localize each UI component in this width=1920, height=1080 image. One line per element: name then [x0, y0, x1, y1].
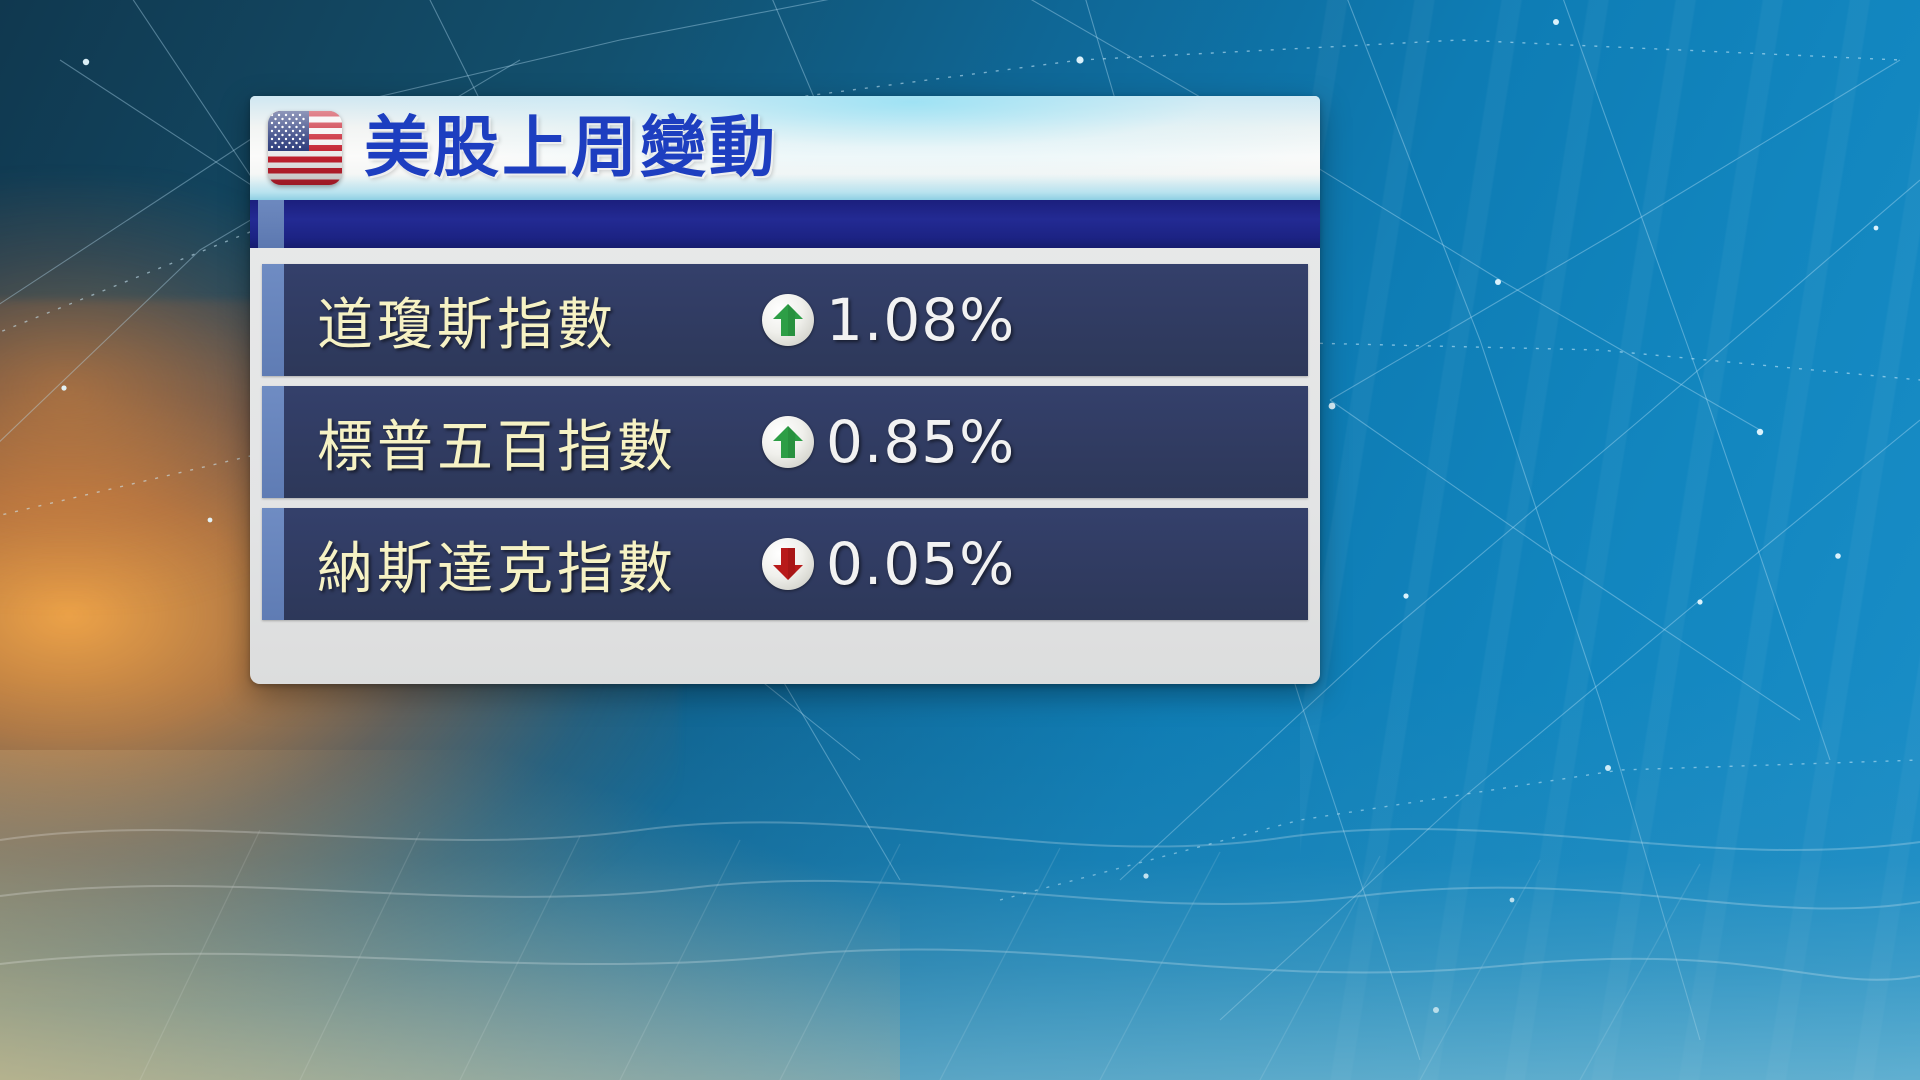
page-title: 美股上周變動	[364, 115, 778, 181]
index-change-value: 0.05%	[826, 530, 1015, 598]
us-flag-icon	[268, 111, 342, 185]
panel-footer-spacer	[250, 646, 1320, 654]
arrow-up-icon	[762, 416, 814, 468]
list-item: 納斯達克指數 0.05%	[262, 508, 1308, 620]
broadcast-graphic-stage: 美股上周變動 道瓊斯指數 1.08%	[0, 0, 1920, 1080]
index-change: 0.05%	[762, 530, 1015, 598]
floor-streaks-decoration	[0, 720, 1920, 1080]
index-name: 道瓊斯指數	[317, 280, 617, 361]
row-accent-bar	[262, 264, 284, 376]
list-item: 標普五百指數 0.85%	[262, 386, 1308, 498]
band-accent-block	[258, 200, 284, 248]
index-name: 標普五百指數	[317, 402, 677, 483]
panel-header: 美股上周變動	[250, 96, 1320, 200]
floor-glow-decoration	[0, 680, 1920, 1080]
arrow-up-icon	[762, 294, 814, 346]
index-change-value: 1.08%	[826, 286, 1015, 354]
index-list: 道瓊斯指數 1.08% 標普五百指數	[250, 248, 1320, 646]
index-change: 0.85%	[762, 408, 1015, 476]
index-change: 1.08%	[762, 286, 1015, 354]
list-item: 道瓊斯指數 1.08%	[262, 264, 1308, 376]
floor-warm-decoration	[0, 750, 900, 1080]
index-name: 納斯達克指數	[317, 524, 677, 605]
panel-divider-band	[250, 200, 1320, 248]
index-change-value: 0.85%	[826, 408, 1015, 476]
arrow-down-icon	[762, 538, 814, 590]
stock-summary-panel: 美股上周變動 道瓊斯指數 1.08%	[250, 96, 1320, 684]
row-accent-bar	[262, 386, 284, 498]
light-bars-decoration	[1300, 0, 1920, 1080]
row-accent-bar	[262, 508, 284, 620]
